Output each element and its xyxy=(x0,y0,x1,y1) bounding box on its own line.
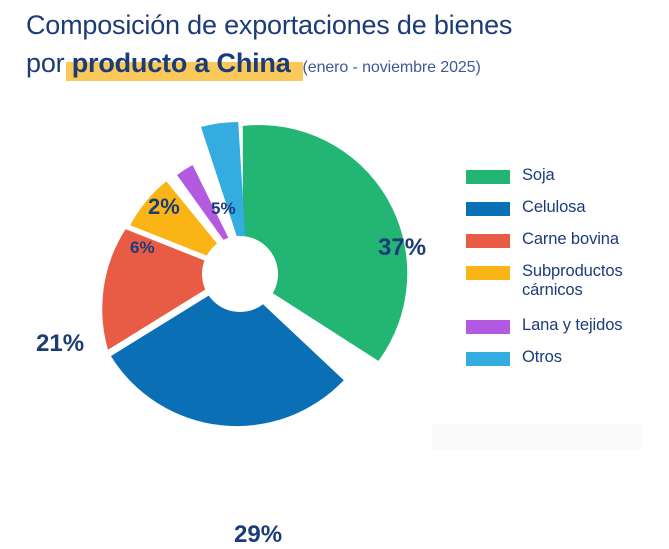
legend-label-subproductos: Subproductos cárnicos xyxy=(510,262,623,300)
label-subproductos: 6% xyxy=(130,238,155,258)
legend-swatch-lana xyxy=(466,320,510,334)
donut-svg xyxy=(18,96,448,441)
legend-label-otros: Otros xyxy=(510,348,562,367)
label-soja: 37% xyxy=(378,234,426,262)
legend-label-soja: Soja xyxy=(510,166,555,185)
legend-label-lana: Lana y tejidos xyxy=(510,316,622,335)
legend-item-carne-bovina[interactable]: Carne bovina xyxy=(466,230,664,249)
legend-item-otros[interactable]: Otros xyxy=(466,348,664,367)
title-highlight-group: producto a China xyxy=(72,46,291,80)
watermark xyxy=(432,424,642,450)
page-title: Composición de exportaciones de bienes p… xyxy=(26,8,646,85)
donut-hole xyxy=(202,236,278,312)
legend-swatch-carne-bovina xyxy=(466,234,510,248)
legend-item-subproductos[interactable]: Subproductos cárnicos xyxy=(466,262,664,300)
label-lana: 2% xyxy=(148,194,180,220)
legend-swatch-celulosa xyxy=(466,202,510,216)
title-line-1: Composición de exportaciones de bienes xyxy=(26,8,646,42)
title-subtitle: (enero - noviembre 2025) xyxy=(291,59,481,76)
label-otros: 5% xyxy=(211,199,236,219)
label-celulosa: 29% xyxy=(234,521,282,549)
title-line-2: por producto a China(enero - noviembre 2… xyxy=(26,46,646,85)
title-highlight-text: producto a China xyxy=(72,48,291,78)
legend-swatch-otros xyxy=(466,352,510,366)
legend-swatch-soja xyxy=(466,170,510,184)
legend-label-carne-bovina: Carne bovina xyxy=(510,230,619,249)
pie-chart: 37% 29% 21% 6% 2% 5% xyxy=(18,96,448,441)
legend-label-celulosa: Celulosa xyxy=(510,198,585,217)
chart-legend: Soja Celulosa Carne bovina Subproductos … xyxy=(466,166,664,380)
legend-swatch-subproductos xyxy=(466,266,510,280)
legend-item-lana[interactable]: Lana y tejidos xyxy=(466,316,664,335)
legend-item-soja[interactable]: Soja xyxy=(466,166,664,185)
label-carne-bovina: 21% xyxy=(36,330,84,358)
legend-item-celulosa[interactable]: Celulosa xyxy=(466,198,664,217)
